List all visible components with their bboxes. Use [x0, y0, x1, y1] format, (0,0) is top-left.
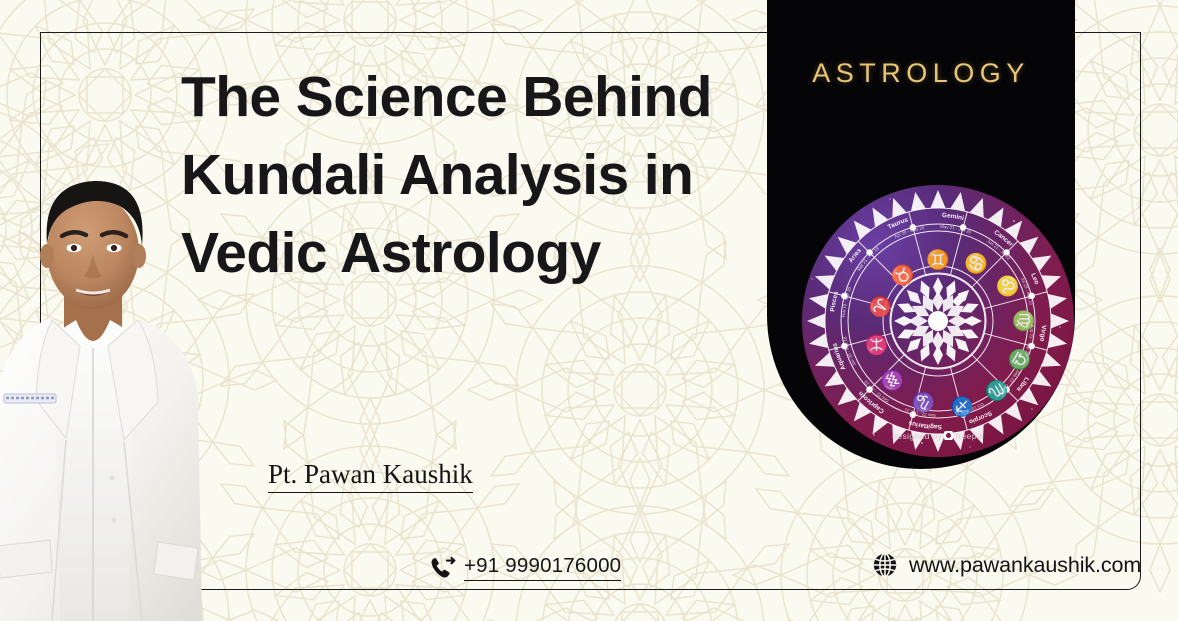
- poster-canvas: ASTROLOGY: [0, 0, 1178, 621]
- pocket-square: [4, 394, 56, 403]
- astrology-panel-title: ASTROLOGY: [767, 58, 1075, 89]
- wheel-dates-leo: Jul 23 - Aug 22: [1020, 276, 1034, 306]
- svg-text:Taurus: Taurus: [887, 216, 910, 231]
- wheel-label-taurus: Taurus: [887, 216, 910, 231]
- freepik-logo-icon: [944, 431, 953, 440]
- headline-line-1: The Science Behind: [181, 58, 761, 136]
- svg-text:Sagittarius: Sagittarius: [907, 419, 942, 430]
- wheel-dates-sagittarius: Nov 22 - Dec 21: [903, 407, 935, 418]
- svg-text:Virgo: Virgo: [1038, 325, 1047, 342]
- wheel-dates-taurus: Apr 20 - May 20: [894, 225, 926, 239]
- svg-text:Pisces: Pisces: [829, 290, 840, 312]
- svg-text:Aries: Aries: [848, 247, 864, 264]
- headline-line-2: Kundali Analysis in: [181, 136, 761, 214]
- svg-text:Leo: Leo: [1029, 272, 1040, 285]
- wheel-dates-libra: Sep 23 - Oct 22: [996, 369, 1020, 396]
- svg-text:Libra: Libra: [1015, 376, 1030, 393]
- phone-outgoing-icon: [430, 556, 456, 580]
- svg-text:Jul 23 - Aug 22: Jul 23 - Aug 22: [1020, 276, 1034, 306]
- phone-contact[interactable]: +91 9990176000: [430, 554, 621, 581]
- website-url[interactable]: www.pawankaushik.com: [909, 553, 1141, 578]
- wheel-dates-virgo: Aug 23 - Sep 22: [1023, 324, 1034, 356]
- freepik-credit: designed byfreepik: [802, 431, 1074, 441]
- svg-text:Capricorn: Capricorn: [857, 390, 885, 415]
- page-title: The Science Behind Kundali Analysis in V…: [181, 58, 761, 292]
- svg-text:Aug 23 - Sep 22: Aug 23 - Sep 22: [1023, 324, 1034, 356]
- zodiac-wheel-disc: ♊ ♋ ♌ ♍ ♎ ♏ ♐ ♑ ♒ ♓ ♈ ♉: [802, 185, 1074, 457]
- svg-text:Apr 20 - May 20: Apr 20 - May 20: [894, 225, 926, 239]
- wheel-dates-gemini: May 21 - Jun 20: [940, 224, 972, 235]
- phone-number[interactable]: +91 9990176000: [464, 554, 621, 581]
- wheel-label-aries: Aries: [848, 247, 864, 264]
- wheel-label-virgo: Virgo: [1038, 325, 1047, 342]
- wheel-label-leo: Leo: [1029, 272, 1040, 285]
- svg-text:Sep 23 - Oct 22: Sep 23 - Oct 22: [996, 369, 1020, 396]
- svg-text:May 21 - Jun 20: May 21 - Jun 20: [940, 224, 972, 235]
- svg-text:Feb 19 - Mar 20: Feb 19 - Mar 20: [841, 286, 852, 318]
- svg-text:Nov 22 - Dec 21: Nov 22 - Dec 21: [903, 407, 935, 418]
- wheel-label-sagittarius: Sagittarius: [907, 419, 942, 430]
- wheel-label-capricorn: Capricorn: [857, 390, 885, 415]
- author-byline: Pt. Pawan Kaushik: [268, 459, 473, 493]
- wheel-dates-pisces: Feb 19 - Mar 20: [841, 286, 852, 318]
- website-contact[interactable]: www.pawankaushik.com: [872, 552, 1141, 578]
- headline-line-3: Vedic Astrology: [181, 214, 761, 292]
- globe-icon: [872, 552, 898, 578]
- zodiac-wheel-graphic: ♊ ♋ ♌ ♍ ♎ ♏ ♐ ♑ ♒ ♓ ♈ ♉: [802, 185, 1074, 457]
- wheel-label-pisces: Pisces: [829, 290, 840, 312]
- astrology-panel: ASTROLOGY: [767, 0, 1075, 469]
- wheel-label-gemini: Gemini: [942, 212, 965, 222]
- freepik-credit-brand: freepik: [955, 431, 983, 441]
- freepik-credit-prefix: designed by: [892, 431, 942, 441]
- svg-text:Gemini: Gemini: [942, 212, 965, 222]
- wheel-label-libra: Libra: [1015, 376, 1030, 393]
- zodiac-label-ring: Gemini Cancer Leo Virgo Libra Scorpio Sa…: [802, 185, 1074, 457]
